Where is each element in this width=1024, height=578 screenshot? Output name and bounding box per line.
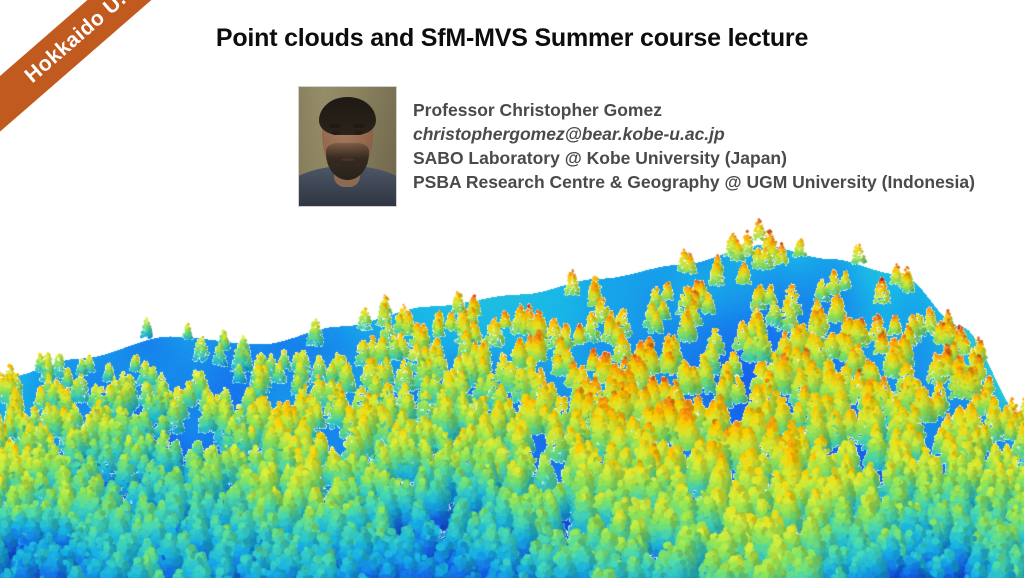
ribbon-band: Hokkaido U. bbox=[0, 0, 171, 147]
portrait-eyebrow-left bbox=[329, 124, 341, 128]
portrait-eye-left bbox=[331, 130, 340, 135]
author-affiliation-1: SABO Laboratory @ Kobe University (Japan… bbox=[413, 146, 975, 170]
point-cloud-figure bbox=[0, 180, 1024, 578]
point-cloud-canvas bbox=[0, 180, 1024, 578]
avatar bbox=[298, 86, 397, 207]
author-affiliation-2: PSBA Research Centre & Geography @ UGM U… bbox=[413, 170, 975, 194]
page-title: Point clouds and SfM-MVS Summer course l… bbox=[0, 24, 1024, 53]
author-details: Professor Christopher Gomez christopherg… bbox=[413, 86, 975, 194]
portrait-eyebrow-right bbox=[353, 124, 365, 128]
author-block: Professor Christopher Gomez christopherg… bbox=[298, 86, 975, 207]
slide-canvas: Hokkaido U. Point clouds and SfM-MVS Sum… bbox=[0, 0, 1024, 578]
author-name: Professor Christopher Gomez bbox=[413, 98, 975, 122]
author-email: christophergomez@bear.kobe-u.ac.jp bbox=[413, 122, 975, 146]
portrait-eye-right bbox=[354, 130, 363, 135]
